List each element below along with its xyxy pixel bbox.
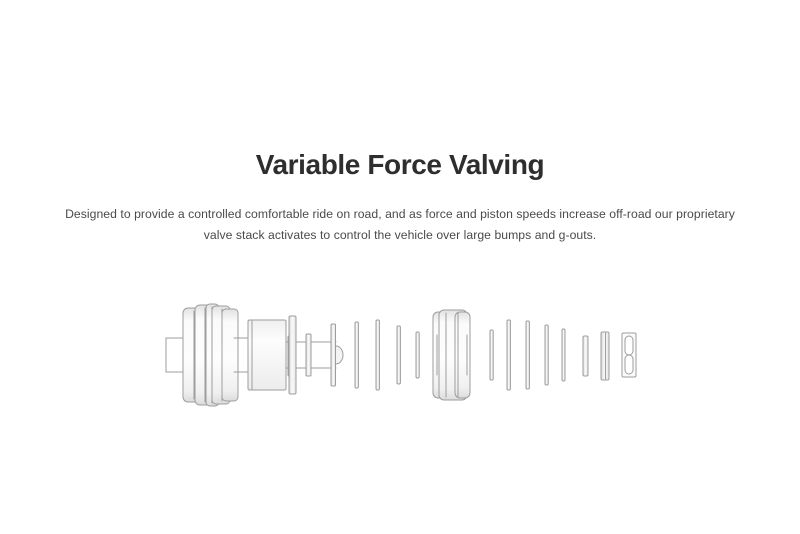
headline-block: Variable Force Valving Designed to provi… — [0, 148, 800, 246]
page-root: Variable Force Valving Designed to provi… — [0, 0, 800, 534]
part-shim-left-2 — [376, 320, 379, 390]
part-small-washer — [331, 324, 336, 386]
part-shim-left-3 — [397, 326, 400, 384]
part-piston-body — [433, 310, 470, 400]
part-large-washer — [289, 316, 296, 394]
part-retainer-nut — [622, 333, 636, 377]
part-thick-shim-2 — [601, 332, 609, 380]
part-shim-right-3 — [526, 321, 529, 389]
part-spacer-block — [248, 320, 286, 390]
part-shim-right-2 — [507, 320, 510, 390]
exploded-shock-valve-stack-diagram — [0, 280, 800, 430]
part-shim-left-1 — [355, 322, 358, 388]
page-title: Variable Force Valving — [0, 148, 800, 182]
part-shim-right-1 — [490, 330, 493, 380]
part-shim-right-4 — [545, 325, 548, 385]
part-bellows-body — [183, 304, 258, 406]
part-shim-left-4 — [416, 332, 419, 378]
part-thick-shim-1 — [583, 336, 588, 376]
part-shim-right-5 — [562, 329, 565, 381]
page-subtitle: Designed to provide a controlled comfort… — [55, 204, 745, 246]
exploded-diagram-container — [0, 280, 800, 430]
